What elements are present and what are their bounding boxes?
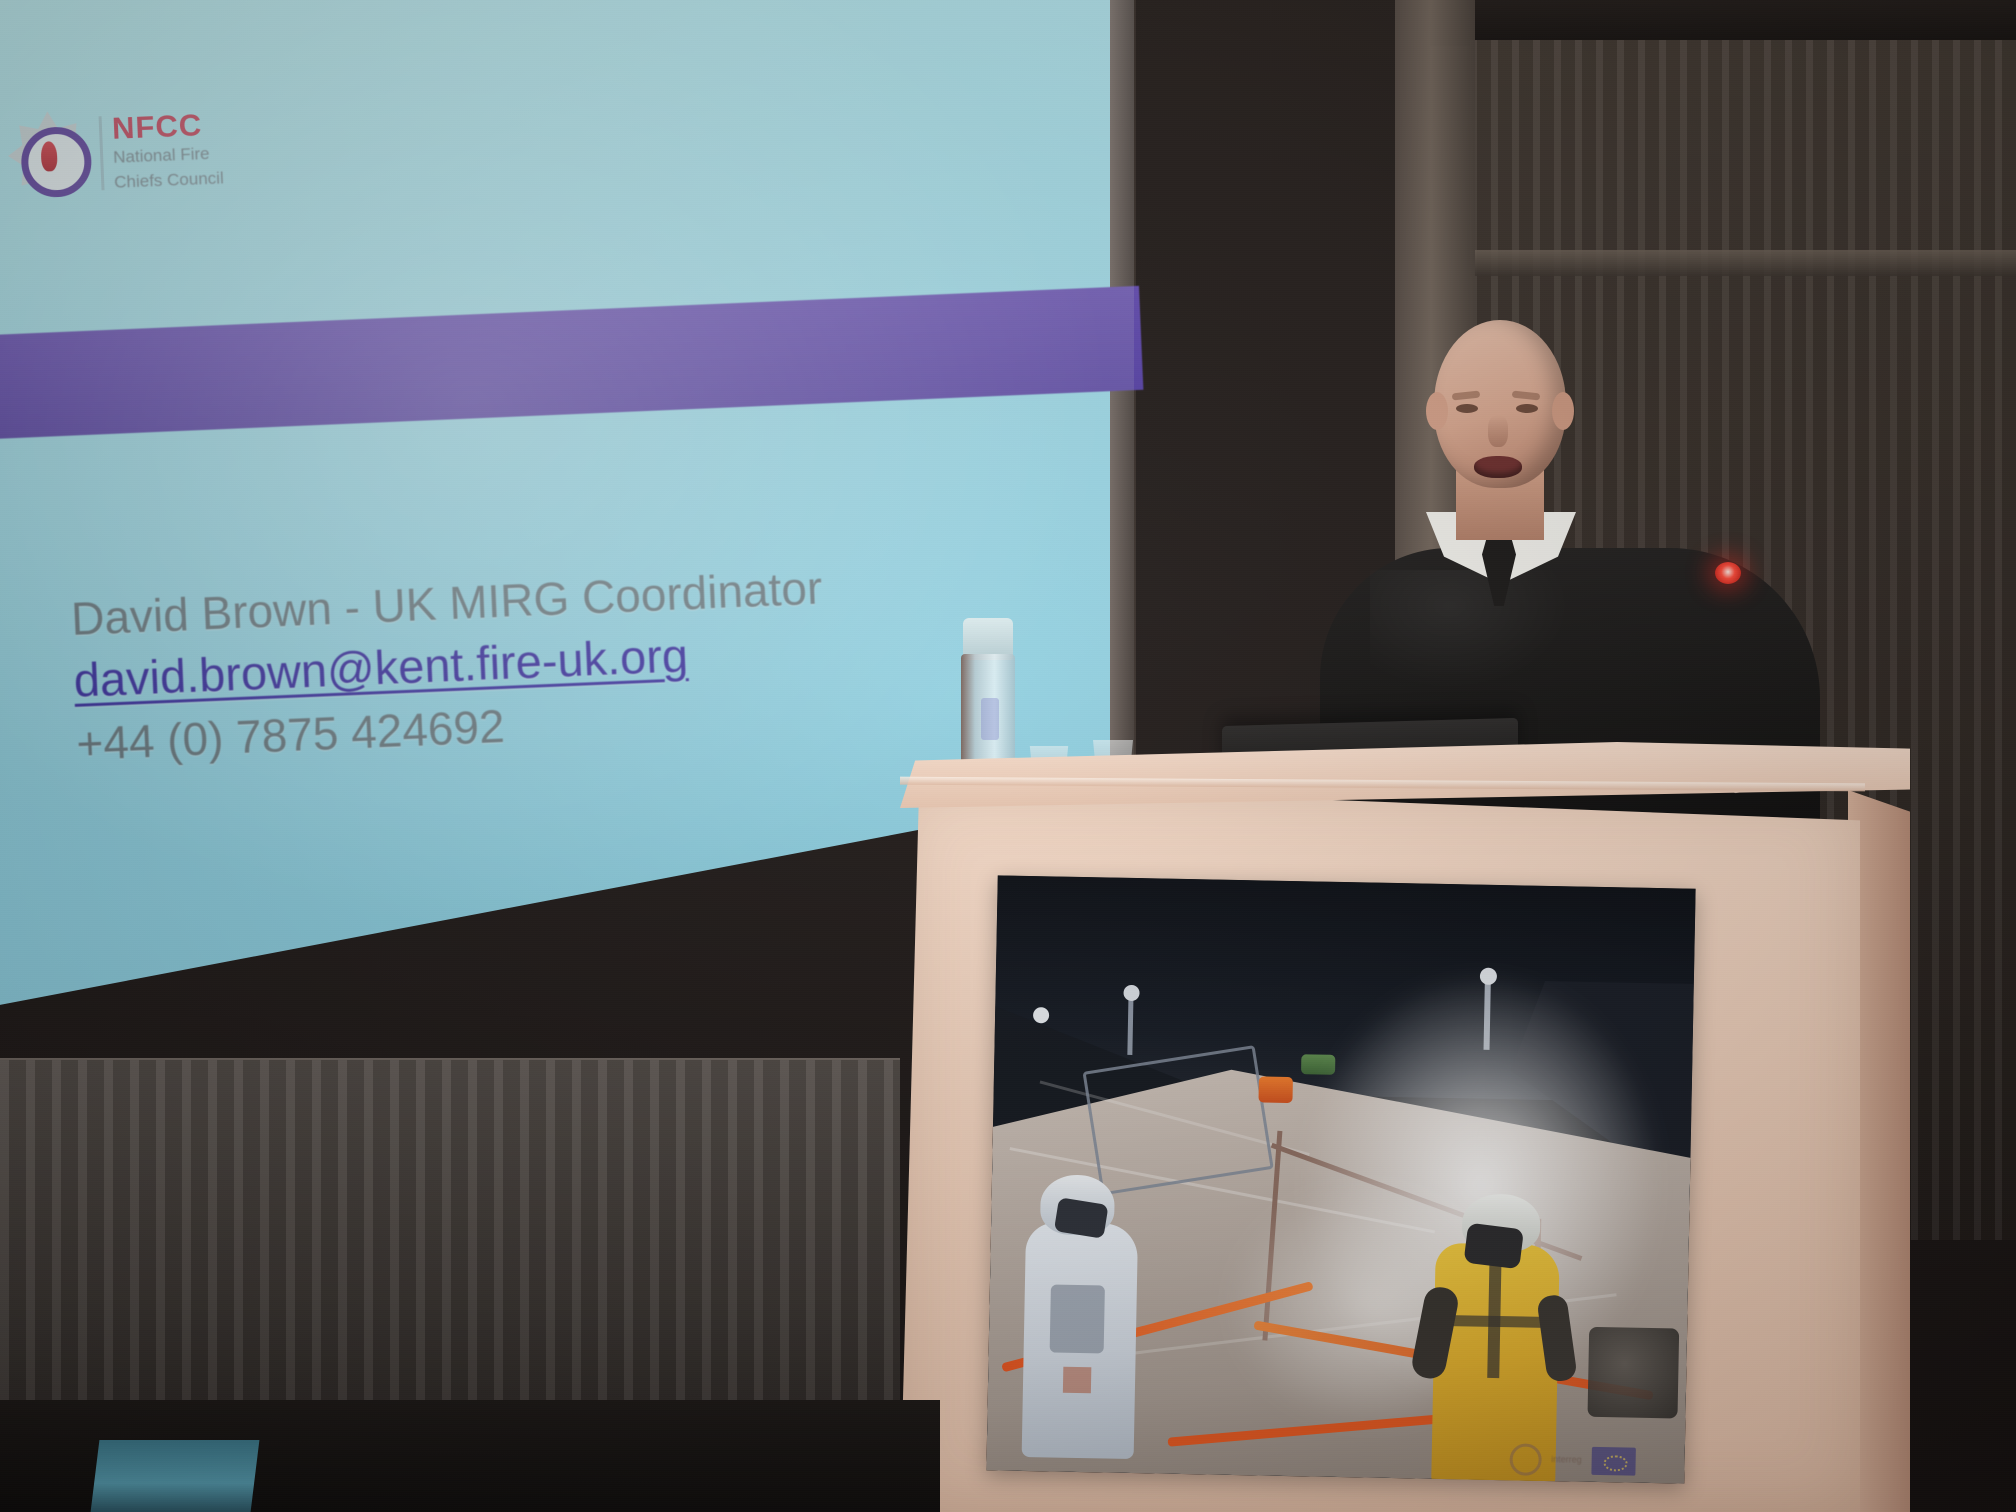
- photo-responder-white-suit: [1021, 1173, 1147, 1465]
- presenter-ear-right: [1552, 392, 1574, 430]
- photo-white-suit-patch: [1063, 1366, 1091, 1393]
- photo-yellow-suit-breathing-mask: [1463, 1223, 1524, 1270]
- lectern-top-surface: [900, 742, 1910, 808]
- foreground-laptop-screen: [91, 1440, 260, 1512]
- presenter-mouth: [1474, 456, 1522, 478]
- photo-white-suit-backpack: [1050, 1284, 1105, 1353]
- photo-responder-yellow-suit: [1419, 1193, 1565, 1484]
- projection-screen-edge: [1110, 0, 1136, 790]
- presentation-lectern: interreg: [900, 742, 1910, 1512]
- fire-service-star-emblem-icon: [6, 106, 92, 205]
- photo-white-suit-visor: [1054, 1197, 1109, 1238]
- partner-circle-icon: [1509, 1443, 1542, 1476]
- bottle-label: [981, 698, 999, 740]
- curtain-rail: [1470, 250, 2016, 276]
- presenter-eye-right: [1516, 404, 1538, 413]
- photo-orange-equipment: [1259, 1077, 1293, 1104]
- nfcc-logo: NFCC National Fire Chiefs Council: [6, 90, 310, 212]
- presenter-nose: [1488, 415, 1508, 447]
- european-union-flag-icon: [1591, 1447, 1636, 1476]
- logo-divider: [99, 116, 105, 190]
- nfcc-name-line-2: Chiefs Council: [114, 168, 224, 193]
- recording-indicator-led-icon: [1715, 562, 1741, 584]
- nfcc-name-line-1: National Fire: [113, 143, 223, 168]
- presenter-ear-left: [1426, 392, 1448, 430]
- lectern-photo: interreg: [986, 875, 1695, 1483]
- presenter-eye-left: [1456, 404, 1478, 413]
- photo-funding-logos: interreg: [1503, 1441, 1691, 1480]
- presentation-photo: NFCC National Fire Chiefs Council David …: [0, 0, 2016, 1512]
- nfcc-logo-text: NFCC National Fire Chiefs Council: [111, 108, 224, 193]
- nfcc-acronym: NFCC: [111, 108, 222, 143]
- photo-yellow-suit-harness-vertical: [1487, 1258, 1501, 1378]
- interreg-logo-text: interreg: [1551, 1456, 1582, 1466]
- photo-deck-equipment: [1588, 1327, 1680, 1419]
